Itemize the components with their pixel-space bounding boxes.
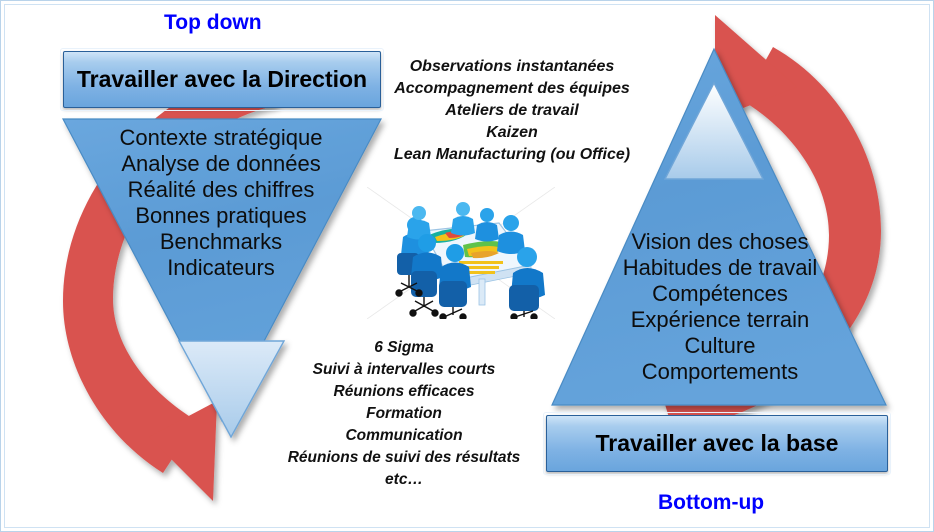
left-triangle-item: Indicateurs	[61, 255, 381, 281]
right-triangle-item: Expérience terrain	[554, 307, 886, 333]
note-line: Accompagnement des équipes	[367, 78, 657, 100]
bottom-up-label: Bottom-up	[658, 491, 764, 515]
left-triangle-item: Réalité des chiffres	[61, 177, 381, 203]
box-direction-label: Travailler avec la Direction	[77, 66, 367, 93]
note-line: Réunions de suivi des résultats	[259, 447, 549, 469]
note-line: 6 Sigma	[259, 337, 549, 359]
diagram-canvas: Contexte stratégique Analyse de données …	[0, 0, 934, 532]
note-line: Formation	[259, 403, 549, 425]
left-triangle-text: Contexte stratégique Analyse de données …	[61, 125, 381, 281]
box-travailler-avec-la-direction[interactable]: Travailler avec la Direction	[63, 51, 381, 108]
right-triangle-item: Comportements	[554, 359, 886, 385]
note-line: Lean Manufacturing (ou Office)	[367, 144, 657, 166]
box-travailler-avec-la-base[interactable]: Travailler avec la base	[546, 415, 888, 472]
note-line: Observations instantanées	[367, 56, 657, 78]
note-bottom-center: 6 Sigma Suivi à intervalles courts Réuni…	[259, 337, 549, 491]
left-triangle-item: Analyse de données	[61, 151, 381, 177]
right-triangle-item: Habitudes de travail	[554, 255, 886, 281]
left-triangle-item: Contexte stratégique	[61, 125, 381, 151]
box-base-label: Travailler avec la base	[596, 430, 839, 457]
note-top-center: Observations instantanées Accompagnement…	[367, 56, 657, 166]
right-triangle-item: Vision des choses	[554, 229, 886, 255]
note-line: etc…	[259, 469, 549, 491]
top-down-label: Top down	[164, 11, 262, 35]
right-triangle-item: Compétences	[554, 281, 886, 307]
note-line: Suivi à intervalles courts	[259, 359, 549, 381]
left-triangle-item: Bonnes pratiques	[61, 203, 381, 229]
right-triangle-item: Culture	[554, 333, 886, 359]
left-triangle-item: Benchmarks	[61, 229, 381, 255]
note-line: Réunions efficaces	[259, 381, 549, 403]
note-line: Communication	[259, 425, 549, 447]
note-line: Kaizen	[367, 122, 657, 144]
meeting-team-clipart	[367, 187, 555, 319]
right-triangle-text: Vision des choses Habitudes de travail C…	[554, 229, 886, 385]
note-line: Ateliers de travail	[367, 100, 657, 122]
